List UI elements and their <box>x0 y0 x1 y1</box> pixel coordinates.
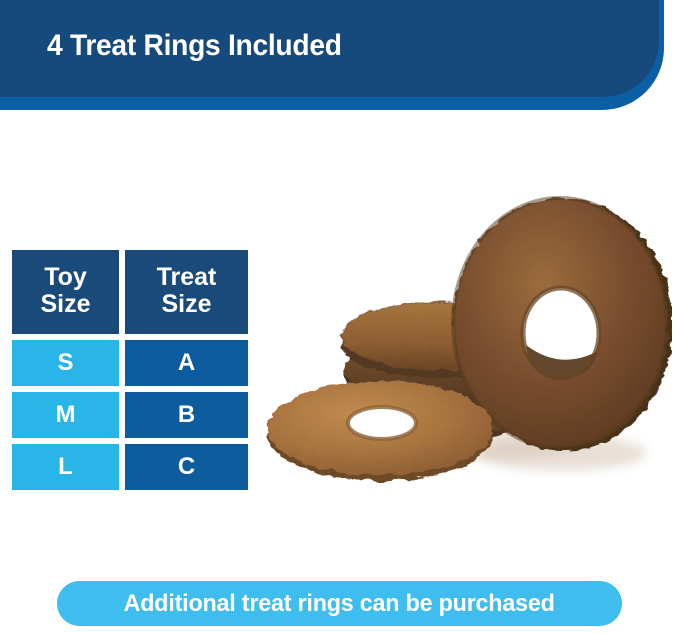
column-header-treat-size: Treat Size <box>125 250 248 334</box>
cell-toy-size: M <box>12 392 119 438</box>
footer-callout-label: Additional treat rings can be purchased <box>124 590 555 618</box>
table-header-row: Toy Size Treat Size <box>12 250 248 334</box>
cell-toy-size: L <box>12 444 119 490</box>
footer-callout-banner: Additional treat rings can be purchased <box>57 581 622 626</box>
column-header-treat-size-line2: Size <box>161 291 211 318</box>
product-photo-treat-rings <box>262 185 672 500</box>
column-header-toy-size-line2: Size <box>40 291 90 318</box>
page-title: 4 Treat Rings Included <box>47 29 342 63</box>
treat-ring-upright-hole <box>523 288 599 379</box>
column-header-toy-size: Toy Size <box>12 250 119 334</box>
cell-treat-size: A <box>125 340 248 386</box>
cell-treat-size: C <box>125 444 248 490</box>
column-header-treat-size-line1: Treat <box>157 264 217 291</box>
header-banner: 4 Treat Rings Included <box>0 0 679 110</box>
column-header-toy-size-line1: Toy <box>44 264 87 291</box>
treat-rings-illustration <box>262 185 672 500</box>
treat-ring-front-hole <box>348 407 416 439</box>
size-chart-table: Toy Size Treat Size S A M B L C <box>12 250 248 484</box>
table-row: M B <box>12 392 248 438</box>
table-row: S A <box>12 340 248 386</box>
cell-toy-size: S <box>12 340 119 386</box>
cell-treat-size: B <box>125 392 248 438</box>
treat-ring-front <box>267 381 493 481</box>
table-row: L C <box>12 444 248 490</box>
